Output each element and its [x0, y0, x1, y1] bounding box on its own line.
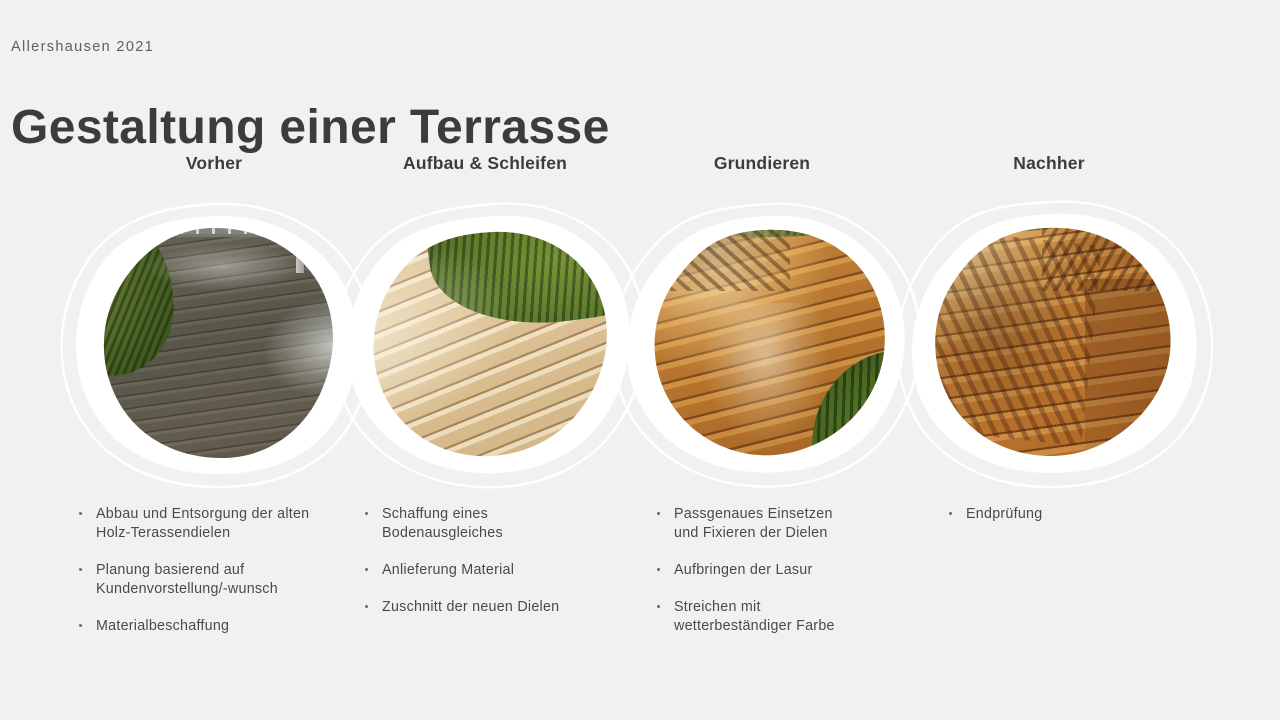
columns-container: Vorher: [0, 0, 1280, 720]
list-item: Anlieferung Material: [360, 561, 610, 580]
column-nachher: Nachher: [889, 0, 1209, 720]
list-item: Streichen mit wetterbeständiger Farbe: [652, 598, 912, 636]
list-item: Zuschnitt der neuen Dielen: [360, 598, 610, 617]
list-item: Passgenaues Einsetzen und Fixieren der D…: [652, 505, 912, 543]
bullet-dot-icon: [657, 512, 660, 515]
list-item: Aufbringen der Lasur: [652, 561, 912, 580]
bullet-dot-icon: [365, 568, 368, 571]
column-heading: Nachher: [889, 153, 1209, 174]
list-item: Endprüfung: [944, 505, 1194, 524]
column-heading: Grundieren: [602, 153, 922, 174]
bullet-list-grundieren: Passgenaues Einsetzen und Fixieren der D…: [652, 505, 912, 636]
bullet-dot-icon: [79, 568, 82, 571]
column-heading: Aufbau & Schleifen: [325, 153, 645, 174]
bullet-dot-icon: [79, 624, 82, 627]
list-item: Materialbeschaffung: [74, 617, 364, 636]
bullet-dot-icon: [657, 568, 660, 571]
bullet-dot-icon: [657, 605, 660, 608]
figure-nachher: [871, 196, 1227, 492]
bullet-dot-icon: [365, 512, 368, 515]
list-item: Planung basierend auf Kundenvorstellung/…: [74, 561, 364, 599]
bullet-dot-icon: [79, 512, 82, 515]
bullet-list-nachher: Endprüfung: [944, 505, 1194, 524]
list-item: Schaffung eines Bodenausgleiches: [360, 505, 610, 543]
slide-canvas: Allershausen 2021 Gestaltung einer Terra…: [0, 0, 1280, 720]
bullet-dot-icon: [365, 605, 368, 608]
bullet-list-vorher: Abbau und Entsorgung der alten Holz-Tera…: [74, 505, 364, 636]
bullet-list-aufbau: Schaffung eines Bodenausgleiches Anliefe…: [360, 505, 610, 617]
list-item: Abbau und Entsorgung der alten Holz-Tera…: [74, 505, 364, 543]
bullet-dot-icon: [949, 512, 952, 515]
